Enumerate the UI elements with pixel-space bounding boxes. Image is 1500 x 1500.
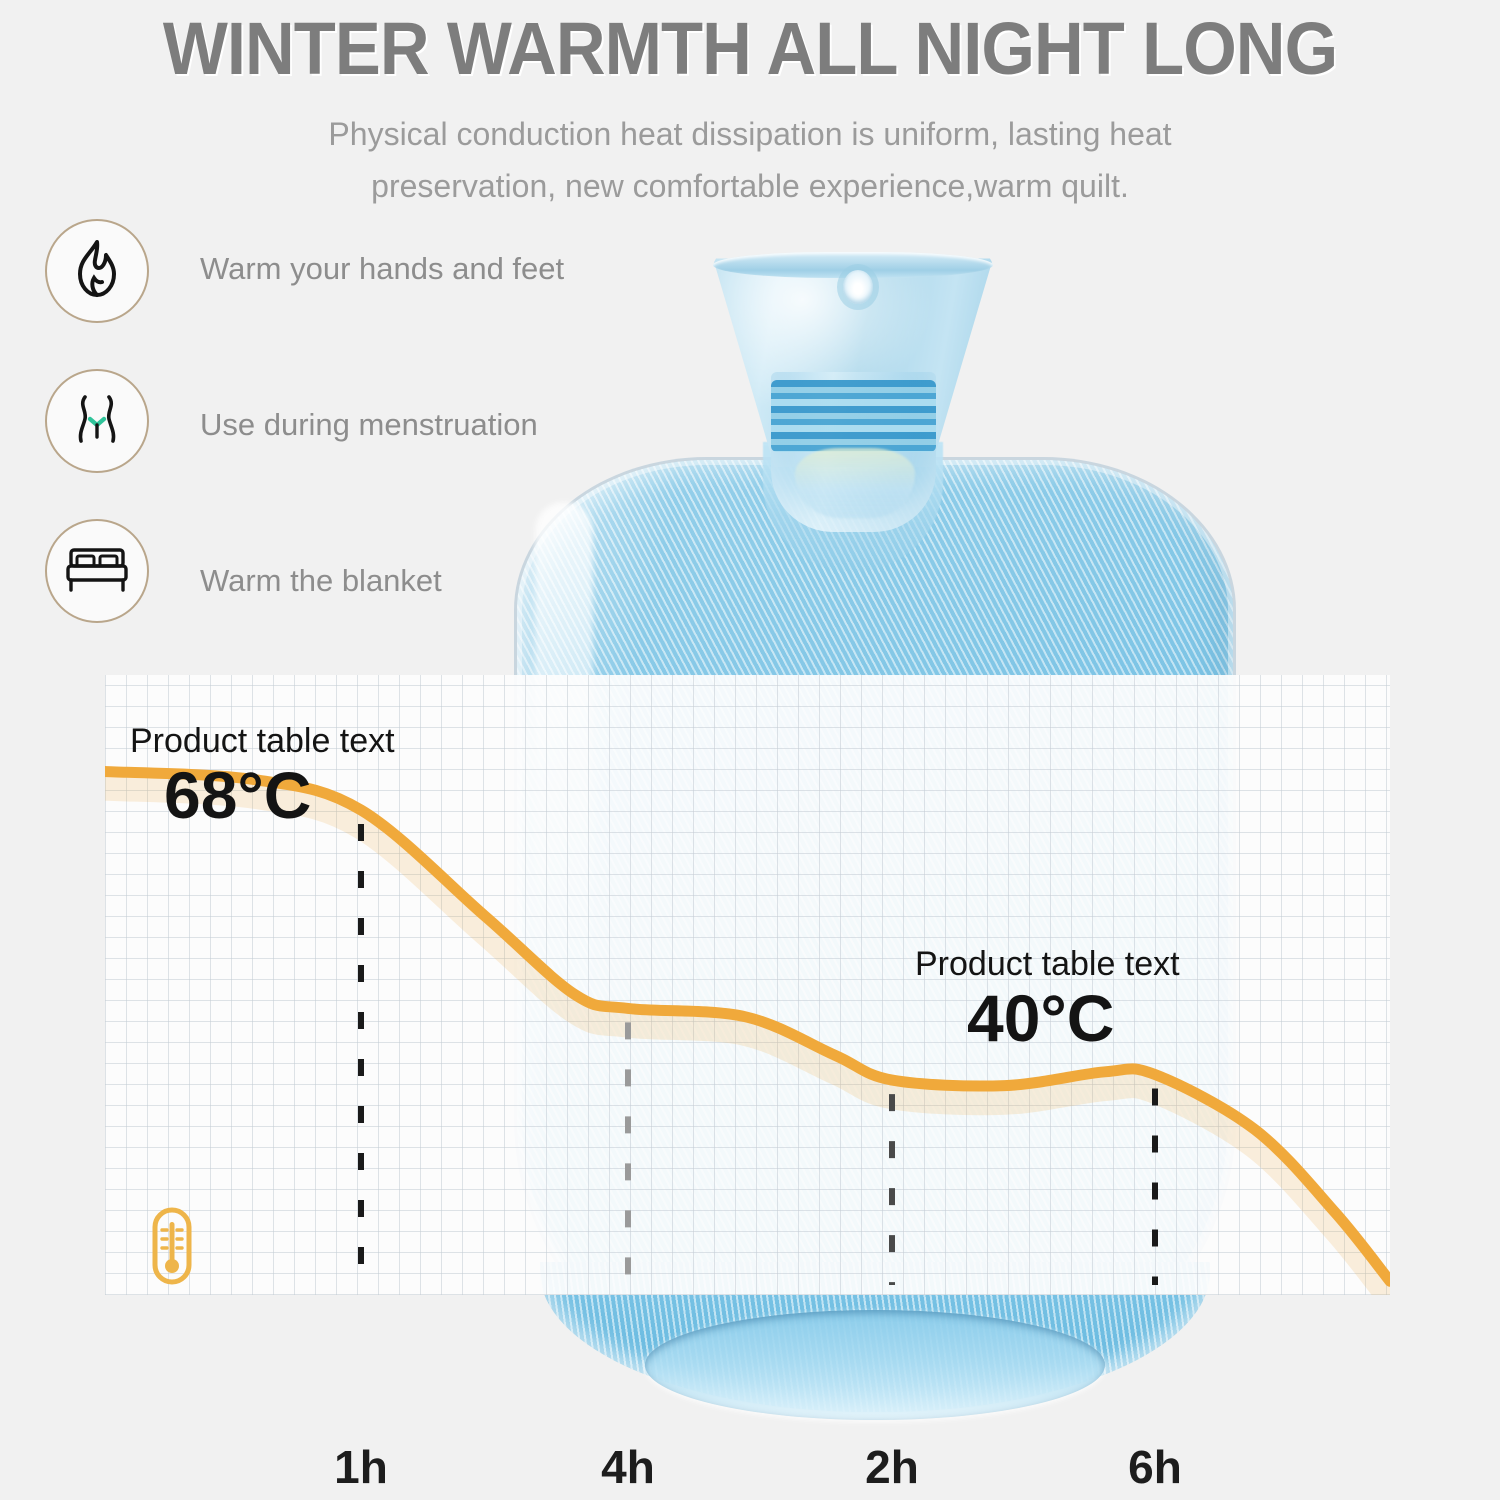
feature-badge <box>45 219 149 323</box>
page-subtitle-line-2: preservation, new comfortable experience… <box>250 160 1250 212</box>
bottle-base-lens <box>645 1310 1105 1420</box>
bottle-hang-hole <box>843 270 873 304</box>
page-subtitle-line-1: Physical conduction heat dissipation is … <box>250 108 1250 160</box>
chart-x-axis: 1h4h2h6h <box>105 1440 1390 1500</box>
bottle-cap-bands <box>771 380 936 452</box>
x-axis-tick-6h: 6h <box>1128 1440 1182 1494</box>
thermometer-icon <box>150 1206 194 1286</box>
page-subtitle: Physical conduction heat dissipation is … <box>250 108 1250 212</box>
callout-value: 68°C <box>164 760 395 830</box>
x-axis-tick-4h: 4h <box>601 1440 655 1494</box>
flame-icon <box>68 238 126 305</box>
feature-badge <box>45 519 149 623</box>
bottle-cap-glow <box>795 448 915 518</box>
callout-value: 40°C <box>967 983 1180 1053</box>
feature-badge <box>45 369 149 473</box>
chart-line-glow <box>105 787 1390 1295</box>
abdomen-icon <box>67 389 127 454</box>
bed-icon <box>65 544 129 599</box>
x-axis-tick-1h: 1h <box>334 1440 388 1494</box>
x-axis-tick-2h: 2h <box>865 1440 919 1494</box>
callout-initial-temperature: Product table text 68°C <box>130 722 395 830</box>
feature-label: Use during menstruation <box>200 407 538 443</box>
callout-final-temperature: Product table text 40°C <box>915 945 1180 1053</box>
feature-label: Warm the blanket <box>200 563 442 599</box>
callout-caption: Product table text <box>130 722 395 760</box>
product-infographic: WINTER WARMTH ALL NIGHT LONG Physical co… <box>0 0 1500 1500</box>
chart-line-shadow <box>105 787 1390 1295</box>
page-title: WINTER WARMTH ALL NIGHT LONG <box>53 8 1448 90</box>
callout-caption: Product table text <box>915 945 1180 983</box>
